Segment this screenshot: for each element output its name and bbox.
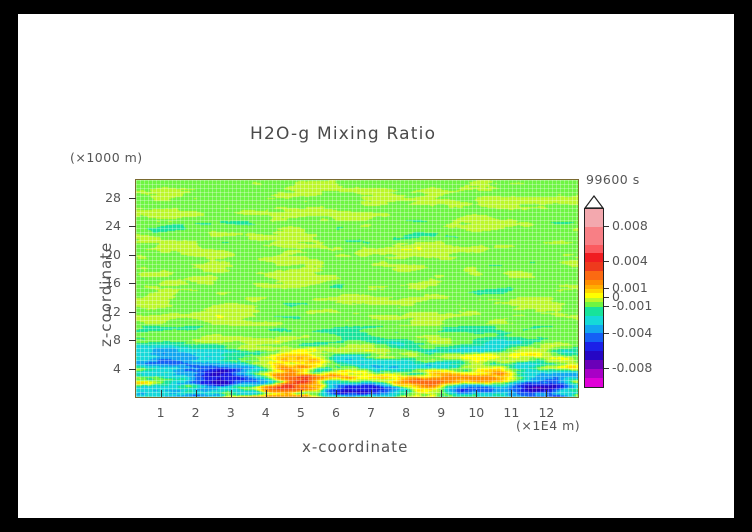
x-axis-tick bbox=[406, 390, 407, 397]
page-title: H2O-g Mixing Ratio bbox=[250, 124, 436, 144]
colorbar-band bbox=[585, 342, 603, 351]
y-axis-unit-label: (×1000 m) bbox=[70, 150, 143, 165]
figure-paper: H2O-g Mixing Ratio (×1000 m) 99600 s 481… bbox=[18, 14, 734, 518]
timestamp-annotation: 99600 s bbox=[586, 172, 640, 187]
colorbar-tick bbox=[604, 297, 609, 298]
y-axis-tick bbox=[129, 369, 136, 370]
colorbar-band bbox=[585, 271, 603, 280]
x-axis-label: x-coordinate bbox=[302, 438, 408, 456]
x-axis-tick bbox=[231, 390, 232, 397]
colorbar-tick bbox=[604, 333, 609, 334]
x-axis: 123456789101112 bbox=[136, 397, 578, 398]
x-axis-tick-label: 9 bbox=[426, 405, 456, 420]
x-axis-tick bbox=[196, 390, 197, 397]
x-axis-tick bbox=[441, 390, 442, 397]
y-axis-tick bbox=[129, 340, 136, 341]
colorbar-band bbox=[585, 253, 603, 262]
x-axis-tick bbox=[476, 390, 477, 397]
figure-page: H2O-g Mixing Ratio (×1000 m) 99600 s 481… bbox=[0, 0, 752, 532]
contour-plot-area bbox=[136, 180, 578, 397]
colorbar-band bbox=[585, 307, 603, 316]
x-axis-tick-label: 6 bbox=[321, 405, 351, 420]
colorbar-band bbox=[585, 351, 603, 360]
x-axis-tick bbox=[511, 390, 512, 397]
x-axis-tick bbox=[161, 390, 162, 397]
x-axis-tick-label: 10 bbox=[461, 405, 491, 420]
colorbar: 0.0080.0040.0010-0.001-0.004-0.008 bbox=[582, 208, 606, 398]
colorbar-tick-label: -0.001 bbox=[612, 298, 652, 313]
colorbar-tick bbox=[604, 368, 609, 369]
x-axis-tick-label: 4 bbox=[251, 405, 281, 420]
x-axis-tick bbox=[336, 390, 337, 397]
colorbar-gradient bbox=[584, 208, 604, 388]
y-axis-label-wrap: z-coordinate bbox=[102, 347, 103, 348]
colorbar-band bbox=[585, 316, 603, 325]
y-axis-tick bbox=[129, 198, 136, 199]
x-axis-tick bbox=[266, 390, 267, 397]
x-axis-unit-label: (×1E4 m) bbox=[516, 418, 580, 433]
colorbar-tick bbox=[604, 306, 609, 307]
y-axis-tick-label: 24 bbox=[81, 218, 121, 233]
colorbar-band bbox=[585, 378, 603, 387]
colorbar-tick-label: 0.008 bbox=[612, 218, 648, 233]
y-axis-tick bbox=[129, 255, 136, 256]
colorbar-tick-label: -0.004 bbox=[612, 325, 652, 340]
colorbar-tick bbox=[604, 226, 609, 227]
colorbar-band bbox=[585, 227, 603, 245]
colorbar-band bbox=[585, 369, 603, 378]
colorbar-tick bbox=[604, 288, 609, 289]
colorbar-band bbox=[585, 245, 603, 254]
colorbar-top-arrow-icon bbox=[582, 195, 606, 209]
y-axis-tick bbox=[129, 283, 136, 284]
x-axis-tick bbox=[546, 390, 547, 397]
x-axis-tick-label: 1 bbox=[146, 405, 176, 420]
y-axis-tick-label: 28 bbox=[81, 190, 121, 205]
x-axis-tick-label: 8 bbox=[391, 405, 421, 420]
colorbar-tick bbox=[604, 261, 609, 262]
x-axis-tick-label: 7 bbox=[356, 405, 386, 420]
y-axis: 481216202428 bbox=[136, 180, 137, 397]
colorbar-band bbox=[585, 209, 603, 227]
x-axis-tick-label: 3 bbox=[216, 405, 246, 420]
colorbar-tick-label: -0.008 bbox=[612, 360, 652, 375]
x-axis-tick bbox=[371, 390, 372, 397]
colorbar-band bbox=[585, 333, 603, 342]
x-axis-tick-label: 2 bbox=[181, 405, 211, 420]
y-axis-tick bbox=[129, 312, 136, 313]
colorbar-band bbox=[585, 325, 603, 334]
x-axis-tick-label: 5 bbox=[286, 405, 316, 420]
contour-field bbox=[136, 180, 578, 397]
colorbar-band bbox=[585, 262, 603, 271]
y-axis-label: z-coordinate bbox=[97, 242, 115, 347]
y-axis-tick bbox=[129, 226, 136, 227]
y-axis-tick-label: 4 bbox=[81, 361, 121, 376]
colorbar-band bbox=[585, 360, 603, 369]
colorbar-tick-label: 0.004 bbox=[612, 253, 648, 268]
x-axis-tick bbox=[301, 390, 302, 397]
